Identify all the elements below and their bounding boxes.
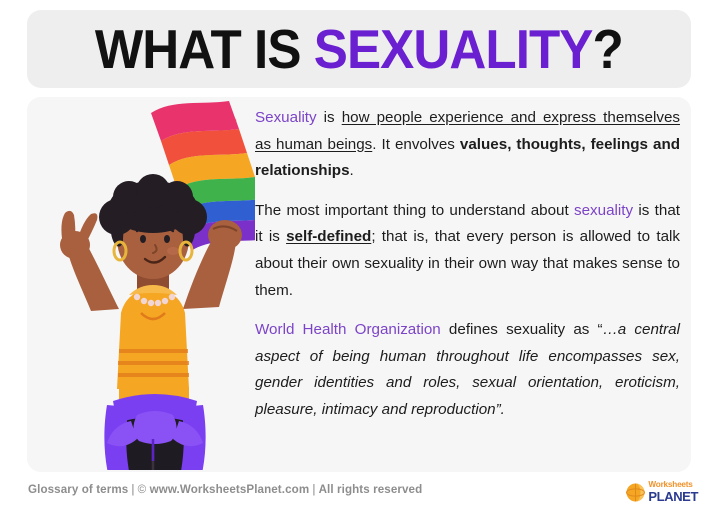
footer-separator-one: | <box>128 483 137 496</box>
footer-rights-label: All rights reserved <box>319 483 423 496</box>
footer-bar: Glossary of terms|© www.WorksheetsPlanet… <box>0 478 720 509</box>
page-title: WHAT IS SEXUALITY? <box>95 22 623 77</box>
run-envolves: . It envolves <box>372 136 460 153</box>
logo-bottom-word: PLANET <box>648 490 698 503</box>
worksheets-planet-logo[interactable]: Worksheets PLANET <box>626 481 698 503</box>
logo-top-word: Worksheets <box>648 481 698 489</box>
paragraph-definition: Sexuality is how people experience and e… <box>255 105 680 185</box>
run-is: is <box>317 109 342 126</box>
content-inner-surface: Sexuality is how people experience and e… <box>27 97 691 472</box>
logo-wordmark: Worksheets PLANET <box>648 481 698 503</box>
paragraph-self-defined: The most important thing to understand a… <box>255 198 680 304</box>
content-card: Sexuality is how people experience and e… <box>27 97 691 472</box>
run-period-one: . <box>350 162 354 179</box>
footer-separator-two: | <box>309 483 318 496</box>
poster-page: WHAT IS SEXUALITY? <box>0 0 720 509</box>
globe-icon <box>626 483 645 502</box>
run-self-defined: self-defined <box>286 228 371 245</box>
term-world-health-organization: World Health Organization <box>255 321 441 338</box>
term-sexuality: Sexuality <box>255 109 317 126</box>
footer-glossary-label: Glossary of terms <box>28 483 128 496</box>
definition-text-column: Sexuality is how people experience and e… <box>255 105 680 424</box>
footer-site-link[interactable]: www.WorksheetsPlanet.com <box>150 483 310 496</box>
footer-credits: Glossary of terms|© www.WorksheetsPlanet… <box>28 483 422 496</box>
term-sexuality-second: sexuality <box>574 202 633 219</box>
illustration-woman-with-pride-flag <box>33 99 255 470</box>
header-card: WHAT IS SEXUALITY? <box>27 10 691 88</box>
title-accent-word: SEXUALITY <box>314 18 593 80</box>
title-part-one: WHAT IS <box>95 18 314 80</box>
run-defines-sexuality-as: defines sexuality as “ <box>441 321 603 338</box>
paragraph-who-quote: World Health Organization defines sexual… <box>255 317 680 423</box>
run-most-important: The most important thing to understand a… <box>255 202 574 219</box>
copyright-icon: © <box>138 483 147 496</box>
title-question-mark: ? <box>593 18 623 80</box>
